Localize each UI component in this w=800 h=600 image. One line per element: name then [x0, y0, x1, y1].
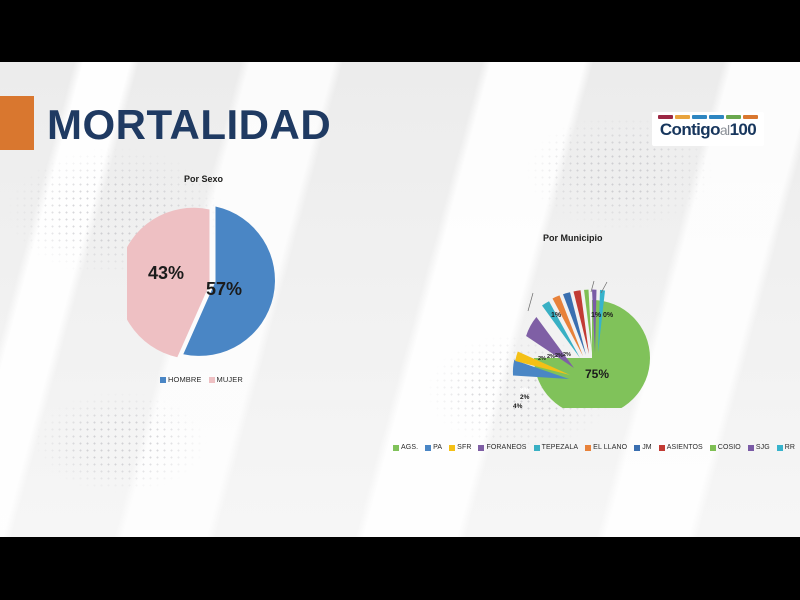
legend-swatch-asientos — [659, 445, 665, 451]
logo-bar-1 — [658, 115, 673, 119]
legend-entry-tepezala[interactable]: TEPEZALA — [534, 444, 579, 451]
legend-label-tepezala: TEPEZALA — [542, 444, 579, 451]
legend-label-sfr: SFR — [457, 444, 471, 451]
legend-entry-sfr[interactable]: SFR — [449, 444, 471, 451]
logo-wordmark: Contigoal100 — [656, 120, 760, 140]
municipio-value-label-tepezala: 2% — [538, 356, 546, 362]
logo-word-main: Contigo — [660, 120, 720, 139]
municipio-value-label-jm: 2% — [555, 353, 563, 359]
logo-bar-4 — [709, 115, 724, 119]
legend-label-hombre: HOMBRE — [168, 375, 202, 384]
municipio-value-label-sfr: 2% — [520, 394, 529, 401]
legend-label-pa: PA — [433, 444, 442, 451]
municipio-value-label-rr: 0% — [603, 312, 613, 319]
legend-swatch-tepezala — [534, 445, 540, 451]
municipio-leader-line-1 — [528, 293, 533, 311]
municipio-pie-svg — [495, 248, 655, 408]
legend-entry-ags[interactable]: AGS. — [393, 444, 418, 451]
logo-bar-6 — [743, 115, 758, 119]
municipio-value-label-sjg: 1% — [591, 312, 601, 319]
sex-chart-legend: HOMBRE MUJER — [160, 375, 250, 384]
legend-swatch-foraneos — [478, 445, 484, 451]
legend-entry-rr[interactable]: RR — [777, 444, 795, 451]
legend-label-sjg: SJG — [756, 444, 770, 451]
logo-bar-3 — [692, 115, 707, 119]
legend-label-elllano: EL LLANO — [593, 444, 627, 451]
municipio-value-label-cosio: 1% — [551, 312, 561, 319]
legend-entry-elllano[interactable]: EL LLANO — [585, 444, 627, 451]
municipio-value-label-elllano: 2% — [547, 354, 555, 360]
municipio-pie-chart — [495, 248, 655, 408]
legend-swatch-hombre — [160, 377, 166, 383]
legend-entry-hombre[interactable]: HOMBRE — [160, 375, 202, 384]
legend-swatch-cosio — [710, 445, 716, 451]
sex-value-label-mujer: 43% — [148, 263, 184, 284]
legend-entry-jm[interactable]: JM — [634, 444, 652, 451]
logo-word-middle: al — [720, 122, 730, 138]
legend-swatch-elllano — [585, 445, 591, 451]
legend-label-foraneos: FORANEOS — [486, 444, 526, 451]
title-accent-bar — [0, 96, 34, 150]
slide-canvas: MORTALIDAD Contigoal100 Por Sexo 5 — [0, 62, 800, 537]
legend-label-asientos: ASIENTOS — [667, 444, 703, 451]
municipio-value-label-foraneos: 8% — [520, 387, 529, 394]
municipio-value-label-ags: 75% — [585, 367, 609, 381]
municipio-chart-title: Por Municipio — [543, 233, 603, 243]
logo-word-number: 100 — [730, 120, 757, 139]
legend-label-jm: JM — [642, 444, 652, 451]
municipio-chart-legend: AGS. PA SFR FORANEOS TEPEZALA EL LLANO — [393, 444, 800, 451]
legend-entry-sjg[interactable]: SJG — [748, 444, 770, 451]
legend-label-ags: AGS. — [401, 444, 418, 451]
legend-swatch-sfr — [449, 445, 455, 451]
legend-entry-asientos[interactable]: ASIENTOS — [659, 444, 703, 451]
legend-entry-pa[interactable]: PA — [425, 444, 442, 451]
legend-label-rr: RR — [785, 444, 795, 451]
legend-swatch-sjg — [748, 445, 754, 451]
legend-swatch-jm — [634, 445, 640, 451]
legend-swatch-mujer — [209, 377, 215, 383]
legend-label-cosio: COSIO — [718, 444, 741, 451]
sex-value-label-hombre: 57% — [206, 279, 242, 300]
page-title: MORTALIDAD — [47, 104, 331, 146]
logo-bar-2 — [675, 115, 690, 119]
legend-swatch-rr — [777, 445, 783, 451]
logo-bar-5 — [726, 115, 741, 119]
logo-color-bars — [658, 115, 758, 119]
legend-label-mujer: MUJER — [217, 375, 243, 384]
legend-entry-cosio[interactable]: COSIO — [710, 444, 741, 451]
slide-stage: MORTALIDAD Contigoal100 Por Sexo 5 — [0, 0, 800, 600]
legend-entry-foraneos[interactable]: FORANEOS — [478, 444, 526, 451]
brand-logo: Contigoal100 — [652, 112, 764, 146]
sex-chart-title: Por Sexo — [184, 174, 223, 184]
legend-swatch-pa — [425, 445, 431, 451]
municipio-value-label-pa: 4% — [513, 403, 522, 410]
legend-entry-mujer[interactable]: MUJER — [209, 375, 243, 384]
legend-swatch-ags — [393, 445, 399, 451]
municipio-value-label-asientos: 2% — [563, 352, 571, 358]
municipio-slice-cosio[interactable] — [584, 290, 592, 353]
